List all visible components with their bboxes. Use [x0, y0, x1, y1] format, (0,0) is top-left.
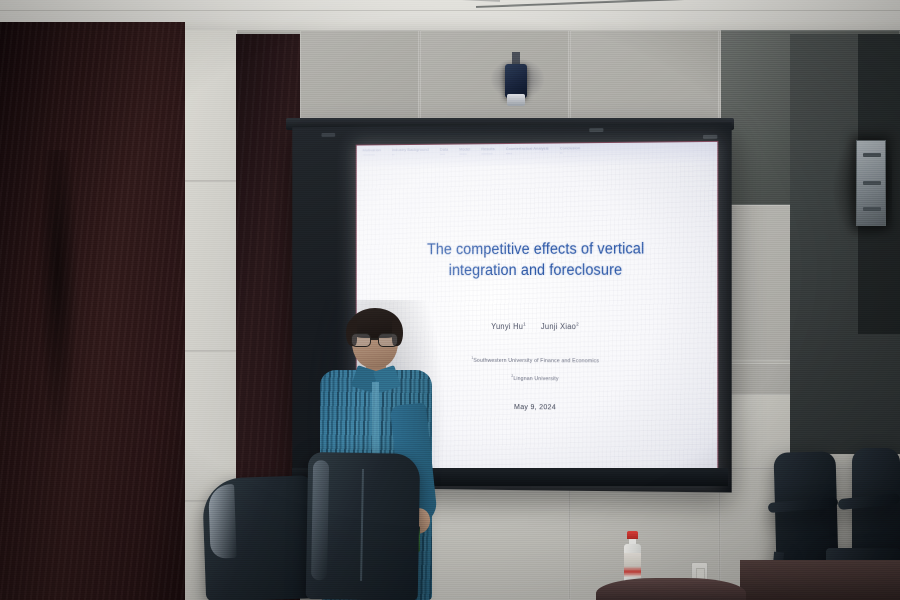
bottle-cap — [627, 531, 638, 539]
nav-section-dots: ◦◦◦◦◦◦◦◦◦ — [481, 151, 495, 156]
nav-section-motivation[interactable]: Motivation ◦◦◦◦◦◦◦◦◦◦ — [363, 147, 381, 157]
beamer-navigation-bar: Motivation ◦◦◦◦◦◦◦◦◦◦ Industry Backgroun… — [357, 142, 718, 167]
wood-wall-panel-left — [0, 22, 185, 600]
screen-clip — [703, 135, 717, 139]
nav-section-dots: ◦◦ — [560, 150, 580, 155]
affiliation-text-1: Southwestern University of Finance and E… — [473, 358, 599, 364]
nav-section-dots: ◦◦◦◦◦◦◦◦◦◦ — [363, 152, 381, 157]
table-skirt — [740, 560, 900, 600]
presentation-room-photo: Motivation ◦◦◦◦◦◦◦◦◦◦ Industry Backgroun… — [0, 0, 900, 600]
nav-section-label: Industry Background — [392, 147, 429, 152]
nav-section-label: Counterfactual Analysis — [506, 146, 549, 151]
nav-section-dots: ◦◦ — [392, 152, 429, 157]
bottle-label — [624, 553, 641, 577]
projector-body — [505, 64, 527, 98]
nav-section-industry-background[interactable]: Industry Background ◦◦ — [392, 147, 429, 157]
nav-section-label: Conclusion — [560, 145, 580, 150]
projector-lens — [507, 94, 525, 106]
slide-title: The competitive effects of vertical inte… — [369, 238, 704, 281]
nav-section-dots: ◦◦◦◦◦◦ — [459, 151, 470, 156]
nav-section-dots: ◦◦◦◦◦ — [506, 151, 549, 156]
foreground-chair-left — [202, 475, 318, 600]
screen-clip — [322, 133, 336, 137]
author-mark-1: 1 — [523, 322, 526, 327]
slide-title-line-1: The competitive effects of vertical — [369, 238, 704, 260]
author-name-2: Junji Xiao — [541, 322, 576, 331]
glasses-icon — [350, 333, 400, 347]
nav-section-conclusion[interactable]: Conclusion ◦◦ — [560, 145, 580, 155]
nav-section-results[interactable]: Results ◦◦◦◦◦◦◦◦◦ — [481, 146, 495, 156]
wall-smudge — [38, 150, 78, 450]
ceiling-seam — [0, 10, 900, 11]
nav-section-data[interactable]: Data ◦◦◦◦ — [440, 147, 449, 157]
foreground-table — [596, 578, 746, 600]
ceiling-projector — [503, 64, 529, 110]
slide-title-line-2: integration and foreclosure — [369, 259, 704, 281]
author-mark-2: 2 — [576, 322, 579, 327]
affiliation-text-2: Lingnan University — [513, 376, 558, 382]
nav-section-dots: ◦◦◦◦ — [440, 152, 449, 157]
nav-section-counterfactual-analysis[interactable]: Counterfactual Analysis ◦◦◦◦◦ — [506, 146, 549, 156]
wall-speaker — [856, 140, 886, 226]
nav-section-model[interactable]: Model ◦◦◦◦◦◦ — [459, 146, 470, 156]
foreground-chair-right — [306, 452, 421, 600]
author-name-1: Yunyi Hu — [491, 322, 523, 331]
screen-clip — [589, 128, 603, 132]
